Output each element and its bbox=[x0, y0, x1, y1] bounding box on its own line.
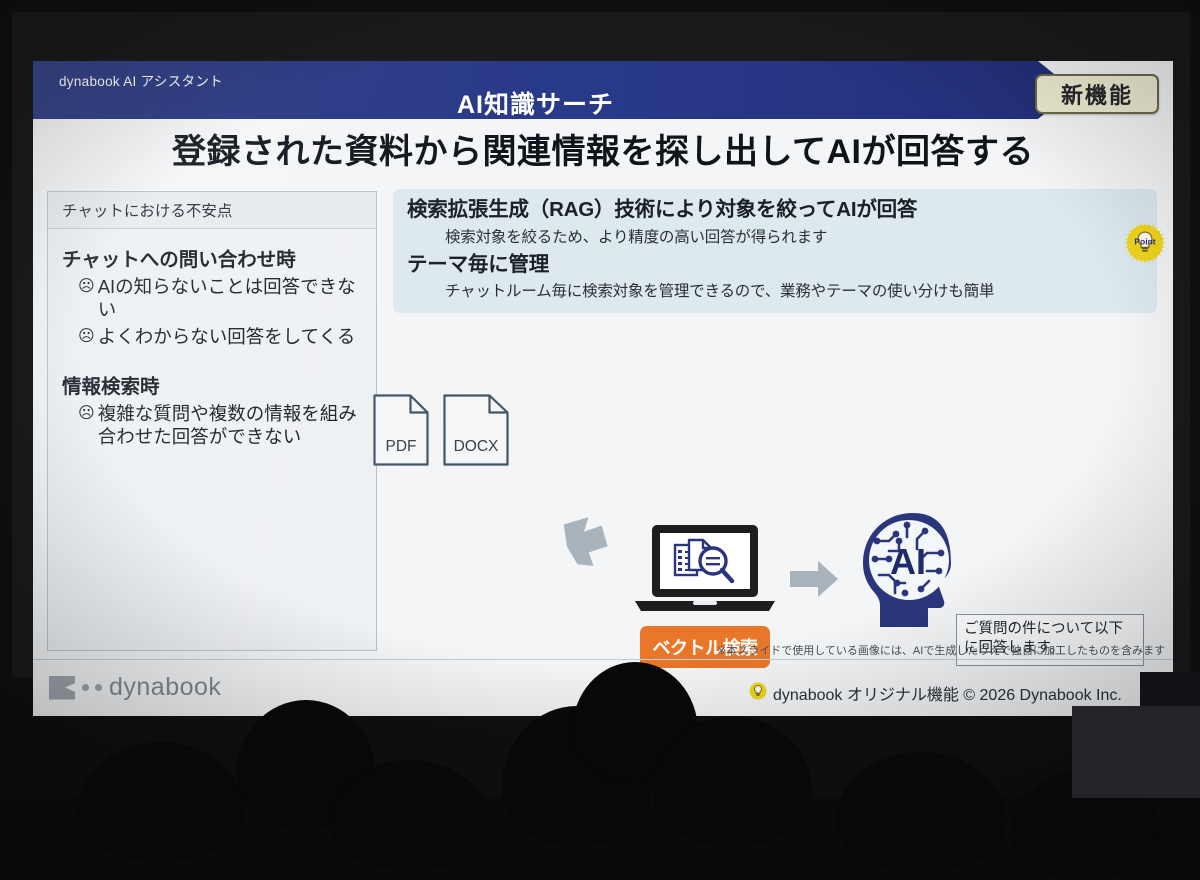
audience-head bbox=[236, 700, 376, 830]
concern-item-text: AIの知らないことは回答できない bbox=[98, 275, 366, 322]
footer-credit-text: dynabook オリジナル機能 © 2026 Dynabook Inc. bbox=[773, 681, 1122, 705]
slide-headline: 登録された資料から関連情報を探し出してAIが回答する bbox=[33, 124, 1173, 173]
concern-item: ☹ よくわからない回答をしてくる bbox=[78, 325, 366, 348]
docx-document-icon: DOCX bbox=[443, 394, 509, 466]
feature-heading: 検索拡張生成（RAG）技術により対象を絞ってAIが回答 bbox=[407, 198, 1143, 223]
presentation-room: dynabook AI アシスタント AI知識サーチ 新機能 登録された資料から… bbox=[0, 0, 1200, 798]
concern-item: ☹ AIの知らないことは回答できない bbox=[78, 275, 366, 322]
concern-group-title: チャットへの問い合わせ時 bbox=[62, 243, 366, 272]
sad-face-icon: ☹ bbox=[78, 275, 95, 298]
concern-item-text: 複雑な質問や複数の情報を組み合わせた回答ができない bbox=[98, 402, 366, 449]
new-feature-badge: 新機能 bbox=[1035, 74, 1159, 114]
sad-face-icon: ☹ bbox=[78, 402, 95, 425]
audience-head bbox=[836, 752, 1006, 872]
dynabook-logo-dots bbox=[82, 684, 102, 691]
dynabook-logo-wordmark: dynabook bbox=[109, 673, 221, 702]
image-disclaimer: ※本スライドで使用している画像には、AIで生成したうえで独自に加工したものを含み… bbox=[717, 642, 1165, 658]
dynabook-logo-mark bbox=[49, 676, 75, 700]
concerns-panel: チャットにおける不安点 チャットへの問い合わせ時 ☹ AIの知らないことは回答で… bbox=[47, 191, 377, 651]
concerns-panel-body: チャットへの問い合わせ時 ☹ AIの知らないことは回答できない ☹ よくわからな… bbox=[48, 229, 376, 448]
arrow-down-right-icon bbox=[556, 513, 616, 576]
audience-head bbox=[502, 706, 652, 846]
audience-head bbox=[330, 760, 490, 870]
feature-heading: テーマ毎に管理 bbox=[407, 253, 1143, 278]
slide: dynabook AI アシスタント AI知識サーチ 新機能 登録された資料から… bbox=[33, 61, 1173, 716]
arrow-right-icon bbox=[788, 558, 840, 605]
pdf-document-icon: PDF bbox=[373, 394, 429, 466]
lightbulb-badge-icon bbox=[749, 682, 767, 705]
feature-subtext: チャットルーム毎に検索対象を管理できるので、業務やテーマの使い分けも簡単 bbox=[445, 279, 1143, 301]
concern-item: ☹ 複雑な質問や複数の情報を組み合わせた回答ができない bbox=[78, 402, 366, 449]
laptop-with-document-search-icon bbox=[631, 523, 779, 628]
footer-divider bbox=[33, 659, 1173, 660]
feature-info-panel: 検索拡張生成（RAG）技術により対象を絞ってAIが回答 検索対象を絞るため、より… bbox=[393, 189, 1157, 313]
pdf-document-label: PDF bbox=[373, 438, 429, 456]
footer-credit: dynabook オリジナル機能 © 2026 Dynabook Inc. bbox=[749, 681, 1122, 705]
ai-head-label: AI bbox=[890, 541, 926, 582]
dynabook-logo: dynabook bbox=[49, 673, 221, 702]
sad-face-icon: ☹ bbox=[78, 325, 95, 348]
docx-document-label: DOCX bbox=[443, 438, 509, 456]
point-badge-icon: Point bbox=[1124, 222, 1166, 264]
slide-header-bar: dynabook AI アシスタント AI知識サーチ bbox=[33, 61, 1038, 119]
concerns-panel-heading: チャットにおける不安点 bbox=[48, 192, 376, 229]
concern-group: チャットへの問い合わせ時 ☹ AIの知らないことは回答できない ☹ よくわからな… bbox=[62, 243, 366, 348]
feature-subtext: 検索対象を絞るため、より精度の高い回答が得られます bbox=[445, 225, 1143, 247]
concern-item-text: よくわからない回答をしてくる bbox=[98, 325, 366, 348]
audience-head bbox=[652, 716, 812, 846]
audience-head bbox=[78, 742, 244, 862]
concern-group: 情報検索時 ☹ 複雑な質問や複数の情報を組み合わせた回答ができない bbox=[62, 370, 366, 449]
foreground-dark-panel bbox=[1072, 706, 1200, 798]
concern-group-title: 情報検索時 bbox=[62, 370, 366, 399]
slide-title: AI知識サーチ bbox=[33, 85, 1038, 121]
point-badge-label: Point bbox=[1134, 237, 1155, 247]
